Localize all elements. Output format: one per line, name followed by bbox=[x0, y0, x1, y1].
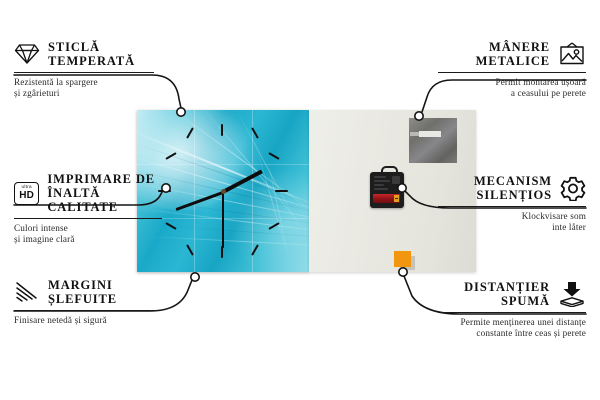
feature-high-quality-print: ultra HD IMPRIMARE DE ÎNALTĂ CALITATE Cu… bbox=[14, 172, 162, 245]
feature-divider bbox=[438, 72, 586, 73]
feature-divider bbox=[438, 206, 586, 207]
metal-hanger-part bbox=[409, 118, 457, 163]
feature-subtitle-line1: Finisare netedă și sigură bbox=[14, 315, 159, 326]
infographic-canvas: STICLĂ TEMPERATĂ Rezistentă la spargere … bbox=[0, 0, 600, 400]
feature-polished-edges: MARGINI ȘLEFUITE Finisare netedă și sigu… bbox=[14, 278, 159, 326]
feature-divider bbox=[14, 310, 159, 311]
ultra-hd-icon: ultra HD bbox=[14, 182, 39, 205]
clock-marker bbox=[221, 124, 223, 136]
feature-subtitle-line2: inte låter bbox=[438, 222, 586, 233]
feature-title-line1: STICLĂ bbox=[48, 40, 135, 54]
feature-metal-handles: MÂNERE METALICE Permit montarea ușoară a… bbox=[438, 40, 586, 99]
feature-subtitle-line2: a ceasului pe perete bbox=[438, 88, 586, 99]
feature-silent-mechanism: MECANISM SILENȚIOS Klockvisare som inte … bbox=[438, 174, 586, 233]
feature-title-line2: SILENȚIOS bbox=[474, 188, 552, 202]
feature-title-line1: DISTANȚIER bbox=[464, 280, 550, 294]
feature-title-line2: ȘLEFUITE bbox=[48, 292, 117, 306]
feature-title-line2: ÎNALTĂ CALITATE bbox=[47, 186, 162, 214]
feature-title-line1: MÂNERE bbox=[476, 40, 550, 54]
feature-tempered-glass: STICLĂ TEMPERATĂ Rezistentă la spargere … bbox=[14, 40, 154, 99]
feature-title-line1: IMPRIMARE DE bbox=[47, 172, 162, 186]
connector-dot-edges bbox=[191, 273, 199, 281]
clock-marker bbox=[275, 190, 288, 192]
feature-subtitle-line1: Culori intense bbox=[14, 223, 162, 234]
clock-mechanism-part bbox=[370, 172, 404, 208]
picture-frame-icon bbox=[558, 42, 586, 66]
feature-subtitle-line2: și imagine clară bbox=[14, 234, 162, 245]
feature-subtitle-line1: Permit montarea ușoară bbox=[438, 77, 586, 88]
clock-front-view bbox=[137, 110, 309, 272]
feature-title-line1: MECANISM bbox=[474, 174, 552, 188]
feature-divider bbox=[14, 72, 154, 73]
clock-second-hand bbox=[222, 192, 224, 248]
battery-part bbox=[373, 194, 400, 203]
feature-divider bbox=[14, 218, 162, 219]
feature-subtitle-line2: și zgârieturi bbox=[14, 88, 154, 99]
feature-subtitle-line1: Klockvisare som bbox=[438, 211, 586, 222]
feature-foam-spacer: DISTANȚIER SPUMĂ Permite menținerea unei… bbox=[438, 280, 586, 339]
feature-title-line2: METALICE bbox=[476, 54, 550, 68]
feature-subtitle-line1: Rezistentă la spargere bbox=[14, 77, 154, 88]
feature-title-line1: MARGINI bbox=[48, 278, 117, 292]
clock-center-pin bbox=[221, 189, 226, 194]
feature-title-line2: TEMPERATĂ bbox=[48, 54, 135, 68]
gear-icon bbox=[560, 176, 586, 201]
foam-spacer-part bbox=[394, 251, 411, 267]
feature-subtitle-line2: constante între ceas și perete bbox=[438, 328, 586, 339]
ultra-hd-icon-main: HD bbox=[19, 191, 34, 201]
polished-edges-icon bbox=[14, 281, 40, 303]
feature-subtitle-line1: Permite menținerea unei distanțe bbox=[438, 317, 586, 328]
spacer-arrow-icon bbox=[558, 281, 586, 307]
feature-title-line2: SPUMĂ bbox=[464, 294, 550, 308]
feature-divider bbox=[438, 312, 586, 313]
diamond-icon bbox=[14, 43, 40, 65]
